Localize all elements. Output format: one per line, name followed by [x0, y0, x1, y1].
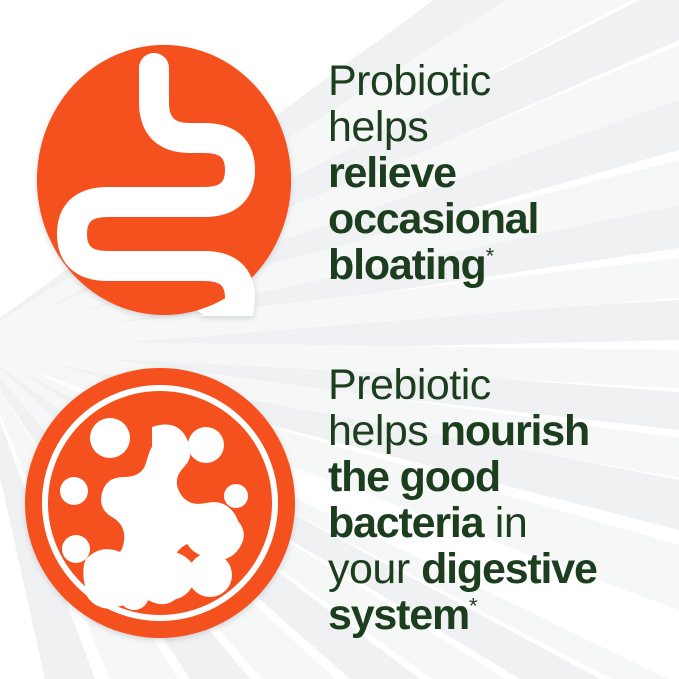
- probiotic-line-2: helps: [328, 104, 676, 150]
- probiotic-line-3: relieve: [328, 150, 676, 196]
- prebiotic-line-5-text-light: your: [328, 545, 421, 593]
- prebiotic-line-5-text-bold: digestive: [421, 545, 597, 593]
- prebiotic-line-3-text: the good: [328, 453, 500, 501]
- prebiotic-line-6-text: system: [328, 591, 469, 639]
- prebiotic-line-1: Prebiotic: [328, 362, 676, 408]
- prebiotic-line-2-text-light: helps: [328, 407, 440, 455]
- bacteria-icon: [24, 367, 296, 639]
- intestine-icon: [36, 44, 292, 316]
- prebiotic-line-4-text-bold: bacteria: [328, 499, 483, 547]
- prebiotic-line-2: helps nourish: [328, 408, 676, 454]
- probiotic-footnote-asterisk: *: [486, 244, 495, 269]
- prebiotic-line-1-text: Prebiotic: [328, 361, 491, 409]
- infographic-canvas: Probiotic helps relieve occasional bloat…: [0, 0, 679, 679]
- probiotic-text-block: Probiotic helps relieve occasional bloat…: [328, 58, 676, 288]
- prebiotic-line-4: bacteria in: [328, 500, 676, 546]
- prebiotic-footnote-asterisk: *: [469, 594, 478, 619]
- prebiotic-line-4-text-light: in: [483, 499, 527, 547]
- prebiotic-line-6: system*: [328, 592, 676, 638]
- probiotic-line-1-text: Probiotic: [328, 57, 491, 105]
- probiotic-line-1: Probiotic: [328, 58, 676, 104]
- probiotic-line-5: bloating*: [328, 242, 676, 288]
- prebiotic-text-block: Prebiotic helps nourish the good bacteri…: [328, 362, 676, 638]
- probiotic-line-4: occasional: [328, 196, 676, 242]
- probiotic-line-3-text: relieve: [328, 149, 456, 197]
- probiotic-line-4-text: occasional: [328, 195, 538, 243]
- prebiotic-line-3: the good: [328, 454, 676, 500]
- prebiotic-line-2-text-bold: nourish: [440, 407, 589, 455]
- prebiotic-line-5: your digestive: [328, 546, 676, 592]
- probiotic-line-5-text: bloating: [328, 241, 486, 289]
- probiotic-line-2-text: helps: [328, 103, 428, 151]
